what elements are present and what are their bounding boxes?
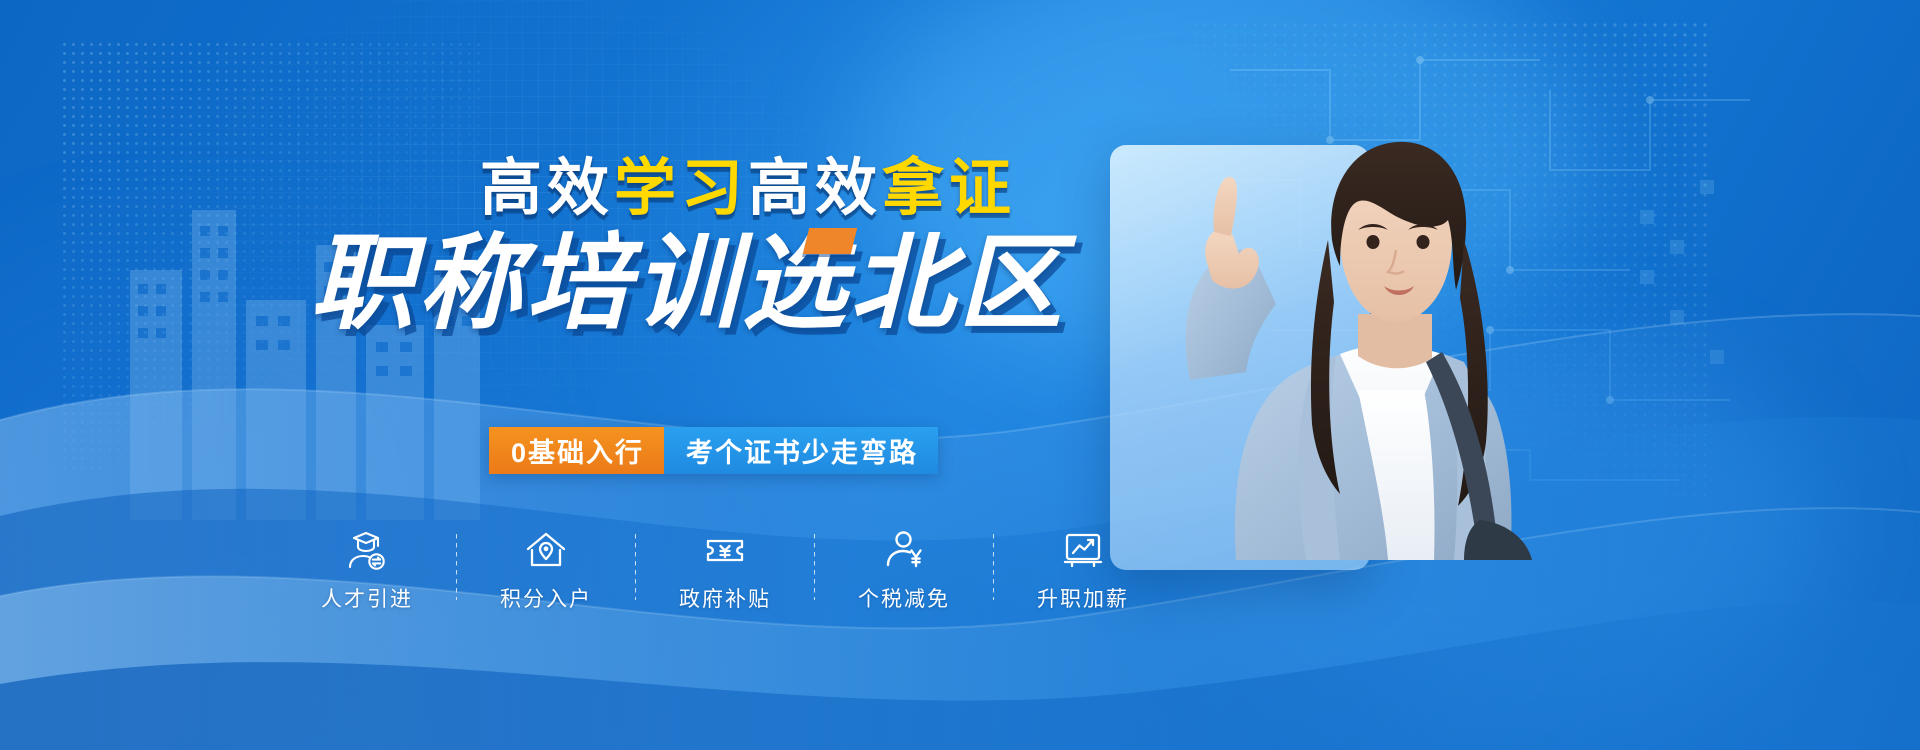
feature-divider (456, 534, 457, 600)
feature-item-talent-introduction[interactable]: 人才引进 (300, 528, 434, 613)
feature-list: 人才引进 积分入户 (300, 528, 1150, 613)
feature-divider (993, 534, 994, 600)
feature-divider (814, 534, 815, 600)
feature-label: 升职加薪 (1037, 583, 1129, 613)
voucher-ticket-icon (703, 528, 747, 572)
feature-item-points-residency[interactable]: 积分入户 (479, 528, 613, 613)
feature-label: 个税减免 (858, 583, 950, 613)
person-yuan-icon (882, 528, 926, 572)
headline-segment-3: 高效 (748, 154, 882, 223)
feature-item-tax-reduction[interactable]: 个税减免 (837, 528, 971, 613)
feature-item-promotion-raise[interactable]: 升职加薪 (1016, 528, 1150, 613)
graduate-person-icon (345, 528, 389, 572)
headline-segment-2: 学习 (614, 154, 748, 223)
headline-segment-1: 高效 (480, 154, 614, 223)
feature-divider (635, 534, 636, 600)
feature-item-government-subsidy[interactable]: 政府补贴 (658, 528, 792, 613)
feature-label: 积分入户 (500, 583, 592, 613)
headline-segment-4: 拿证 (882, 154, 1016, 223)
subline-badge: 0基础入行 (489, 427, 664, 474)
house-pin-icon (524, 528, 568, 572)
promo-banner: 高效学习高效拿证 职称培训选北区 0基础入行 考个证书少走弯路 (0, 0, 1920, 750)
orange-accent-mark (803, 228, 857, 254)
headline-primary: 高效学习高效拿证 (480, 158, 1016, 220)
growth-chart-icon (1061, 528, 1105, 572)
subline-text: 考个证书少走弯路 (664, 427, 938, 474)
feature-label: 人才引进 (321, 583, 413, 613)
banner-content: 高效学习高效拿证 职称培训选北区 0基础入行 考个证书少走弯路 (0, 0, 1920, 750)
feature-label: 政府补贴 (679, 583, 771, 613)
headline-secondary: 职称培训选北区 (310, 232, 1066, 336)
subline-group: 0基础入行 考个证书少走弯路 (489, 427, 938, 474)
